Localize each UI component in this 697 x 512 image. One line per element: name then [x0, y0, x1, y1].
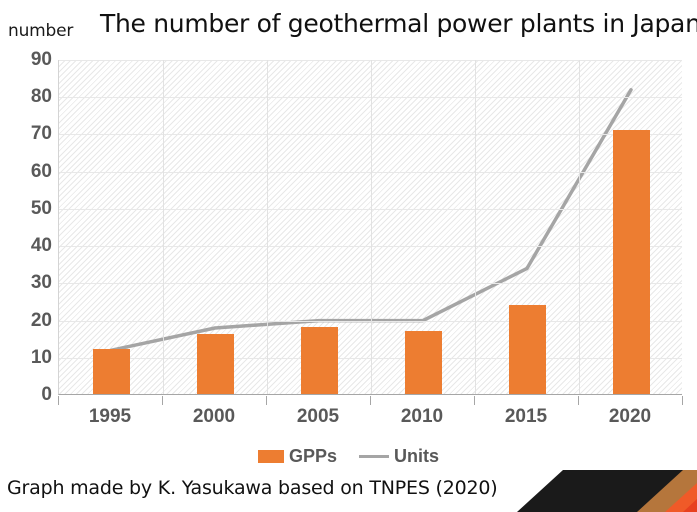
x-axis-tick-mark	[370, 396, 371, 405]
bar-2020	[613, 130, 650, 394]
y-axis-tick-label: 80	[6, 86, 52, 108]
x-axis: 199520002005201020152020	[58, 396, 682, 426]
legend-item-units[interactable]: Units	[359, 446, 439, 467]
bar-2015	[509, 305, 546, 394]
chart-caption: Graph made by K. Yasukawa based on TNPES…	[7, 477, 498, 499]
bar-2005	[301, 327, 338, 394]
bar-2000	[197, 334, 234, 394]
y-axis-tick-label: 90	[6, 49, 52, 71]
legend-item-gpps[interactable]: GPPs	[258, 446, 337, 467]
bar-1995	[93, 349, 130, 394]
chart-title: The number of geothermal power plants in…	[100, 9, 690, 38]
plot-area	[58, 60, 682, 395]
y-axis-tick-label: 30	[6, 272, 52, 294]
x-axis-tick-label: 1995	[89, 406, 131, 428]
x-axis-tick-mark	[162, 396, 163, 405]
y-axis: 0102030405060708090	[0, 60, 52, 395]
gridline-vertical	[475, 60, 476, 394]
y-axis-tick-label: 40	[6, 235, 52, 257]
y-axis-tick-label: 50	[6, 198, 52, 220]
gridline-vertical	[163, 60, 164, 394]
x-axis-tick-mark	[266, 396, 267, 405]
x-axis-tick-label: 2015	[505, 406, 547, 428]
corner-stripes-icon	[497, 470, 697, 512]
gridline-vertical	[267, 60, 268, 394]
x-axis-tick-label: 2005	[297, 406, 339, 428]
chart-figure: number The number of geothermal power pl…	[0, 0, 697, 512]
y-axis-tick-label: 70	[6, 123, 52, 145]
chart-legend: GPPsUnits	[0, 446, 697, 467]
corner-decoration-banner	[497, 470, 697, 512]
x-axis-tick-label: 2020	[609, 406, 651, 428]
x-axis-tick-mark	[474, 396, 475, 405]
y-axis-tick-label: 60	[6, 161, 52, 183]
y-axis-tick-label: 20	[6, 310, 52, 332]
x-axis-tick-label: 2000	[193, 406, 235, 428]
gridline-vertical	[579, 60, 580, 394]
legend-item-label: Units	[394, 446, 439, 467]
x-axis-tick-label: 2010	[401, 406, 443, 428]
legend-line-swatch-icon	[359, 455, 389, 458]
legend-item-label: GPPs	[289, 446, 337, 467]
y-axis-unit-label: number	[8, 21, 73, 41]
bar-2010	[405, 331, 442, 394]
y-axis-tick-label: 10	[6, 347, 52, 369]
legend-bar-swatch-icon	[258, 450, 284, 463]
y-axis-tick-label: 0	[6, 384, 52, 406]
x-axis-tick-mark	[58, 396, 59, 405]
x-axis-tick-mark	[578, 396, 579, 405]
x-axis-tick-mark	[682, 396, 683, 405]
gridline-vertical	[371, 60, 372, 394]
